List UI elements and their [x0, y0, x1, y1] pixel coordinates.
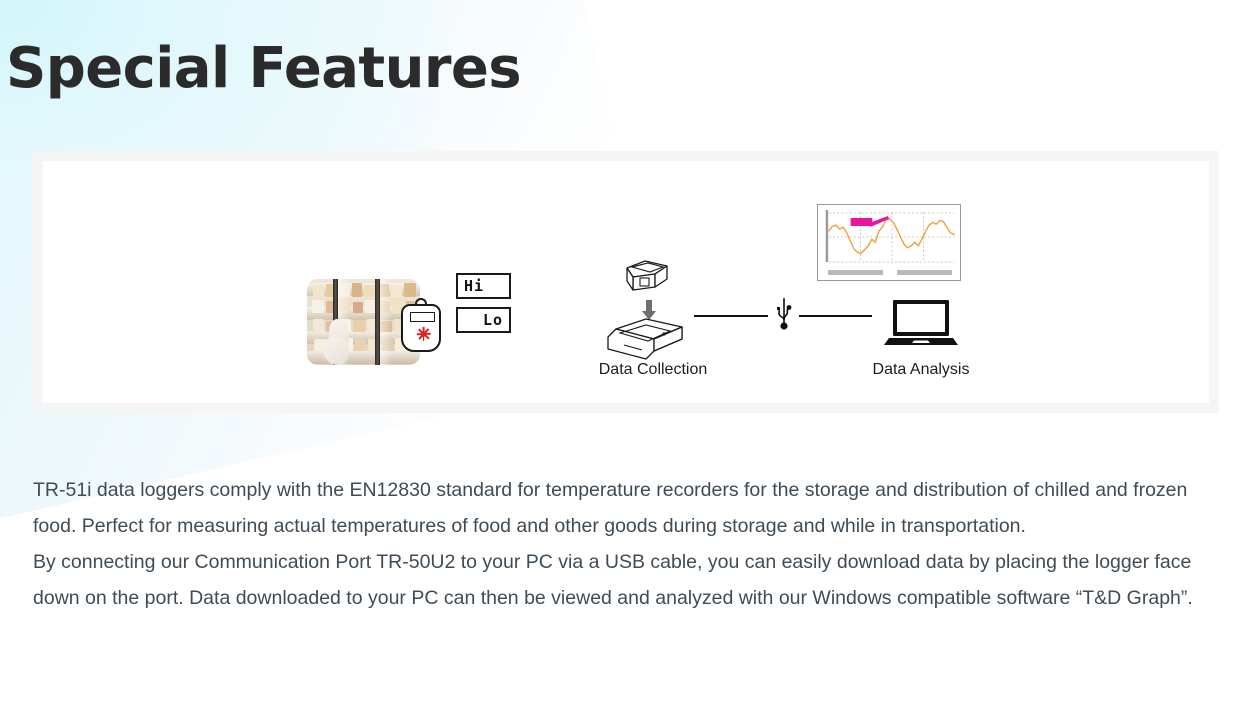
scrollbar-segment-left[interactable] [828, 270, 883, 275]
body-copy: TR-51i data loggers comply with the EN12… [33, 472, 1208, 616]
data-logger-device [401, 298, 441, 352]
connector-line-right [799, 315, 872, 317]
laptop-icon [884, 299, 958, 347]
figure-canvas: Hi Lo [43, 161, 1209, 403]
threshold-box-hi: Hi [456, 273, 511, 299]
page-title: Special Features [6, 36, 521, 102]
graph-plot-area [823, 210, 955, 266]
body-paragraph-1: TR-51i data loggers comply with the EN12… [33, 472, 1208, 544]
page-root: Special Features [0, 0, 1243, 701]
data-collection-label: Data Collection [563, 361, 743, 379]
logger-display [410, 312, 435, 322]
scrollbar-segment-right[interactable] [897, 270, 952, 275]
data-logger-icon [615, 259, 675, 297]
data-collection-group: Data Collection [563, 259, 743, 389]
chart-annotation [823, 210, 955, 266]
graph-scrollbars[interactable] [823, 268, 955, 277]
usb-icon [773, 297, 795, 331]
threshold-box-lo: Lo [456, 307, 511, 333]
body-paragraph-2: By connecting our Communication Port TR-… [33, 544, 1208, 616]
data-analysis-label: Data Analysis [838, 361, 1004, 379]
td-graph-window [817, 204, 961, 281]
alarm-indicator-icon [416, 327, 430, 341]
communication-port-icon [602, 317, 688, 361]
logger-body [401, 304, 441, 352]
figure-card: Hi Lo [33, 151, 1219, 413]
connector-line-left [694, 315, 768, 317]
